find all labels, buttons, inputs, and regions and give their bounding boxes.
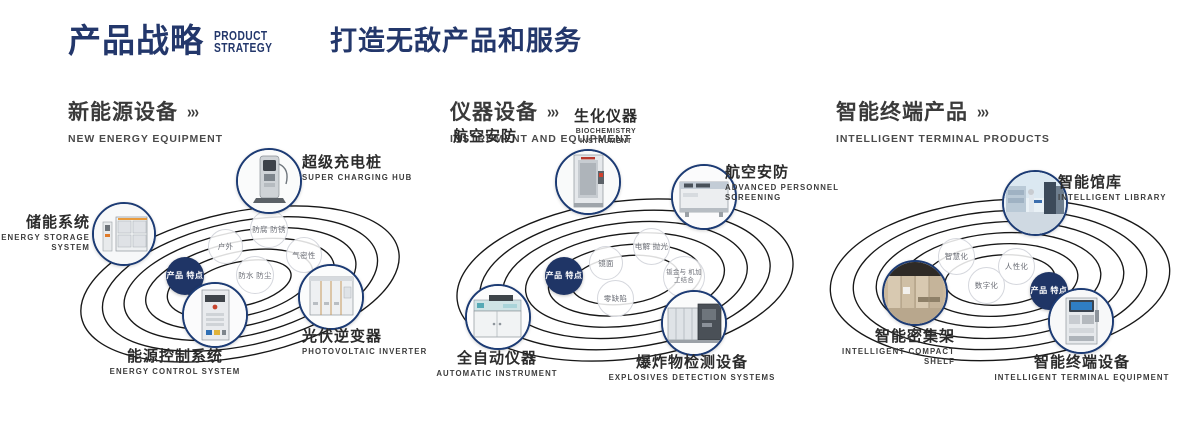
- cluster-instrument: 产品 特点 镜面 电解 抛光 零缺陷 钣金与 机加工结合 生化仪器 BIOCHE…: [425, 152, 825, 417]
- explosive-detector-icon: [663, 292, 725, 354]
- label-cn: 储能系统: [0, 214, 90, 231]
- node-compact-shelf[interactable]: [882, 260, 948, 326]
- feature-bubble-1: 户外: [208, 229, 243, 264]
- label-en: AUTOMATIC INSTRUMENT: [412, 369, 582, 379]
- page-header: 产品战略 PRODUCT STRATEGY: [68, 24, 285, 57]
- cluster-new-energy: 产品 特点 户外 防腐 防锈 防水 防尘 气密性 储能系统 ENERGY STO…: [40, 152, 440, 417]
- section-title-cn: 智能终端产品: [836, 96, 968, 126]
- label-cn: 航空安防: [407, 128, 517, 145]
- section-header-intelligent: 智能终端产品››› INTELLIGENT TERMINAL PRODUCTS: [836, 96, 1050, 145]
- label-cn: 能源控制系统: [85, 348, 265, 365]
- label-terminal-equipment: 智能终端设备 INTELLIGENT TERMINAL EQUIPMENT: [992, 354, 1172, 383]
- compact-shelf-icon: [884, 262, 946, 324]
- label-cn: 全自动仪器: [412, 350, 582, 367]
- terminal-kiosk-icon: [1050, 290, 1112, 352]
- node-charging-hub[interactable]: [236, 148, 302, 214]
- node-terminal-equipment[interactable]: [1048, 288, 1114, 354]
- product-strategy-infographic: 产品战略 PRODUCT STRATEGY 打造无敌产品和服务 新能源设备›››…: [0, 0, 1200, 422]
- label-cn: 智能馆库: [1058, 174, 1198, 191]
- label-en: INTELLIGENT TERMINAL EQUIPMENT: [992, 373, 1172, 383]
- label-en: EXPLOSIVES DETECTION SYSTEMS: [597, 373, 787, 383]
- section-title-cn: 仪器设备: [450, 96, 538, 126]
- feature-bubble-1: 镜面: [589, 246, 623, 280]
- charging-pile-icon: [238, 150, 300, 212]
- node-automatic-instrument[interactable]: [465, 284, 531, 350]
- label-charging-hub: 超级充电桩 SUPER CHARGING HUB: [302, 154, 442, 183]
- feature-bubble-2: 防腐 防锈: [250, 210, 288, 248]
- node-pv-inverter[interactable]: [298, 264, 364, 330]
- label-intelligent-library: 智能馆库 INTELLIGENT LIBRARY: [1058, 174, 1198, 203]
- node-energy-control[interactable]: [182, 282, 248, 348]
- label-cn: 超级充电桩: [302, 154, 442, 171]
- label-en: INTELLIGENT LIBRARY: [1058, 193, 1198, 203]
- section-title-en: INTELLIGENT TERMINAL PRODUCTS: [836, 133, 1050, 145]
- label-cn: 爆炸物检测设备: [597, 354, 787, 371]
- label-en: ENERGY STORAGE SYSTEM: [0, 233, 90, 253]
- label-biochemistry-instrument: 生化仪器 BIOCHEMISTRY INSTRUMENT: [551, 108, 661, 147]
- section-title-cn: 新能源设备: [68, 96, 178, 126]
- label-en: BIOCHEMISTRY INSTRUMENT: [551, 127, 661, 147]
- energy-storage-cabinet-icon: [94, 204, 154, 264]
- chevron-triple-icon: ›››: [187, 101, 198, 121]
- biochem-scanner-icon: [557, 151, 619, 213]
- label-automatic-instrument: 全自动仪器 AUTOMATIC INSTRUMENT: [412, 350, 582, 379]
- chevron-triple-icon: ›››: [977, 101, 988, 121]
- section-title-en: NEW ENERGY EQUIPMENT: [68, 133, 223, 145]
- node-explosives-detection[interactable]: [661, 290, 727, 356]
- label-compact-shelf: 智能密集架 INTELLIGENT COMPACT SHELF: [795, 328, 955, 367]
- core-bubble: 产品 特点: [545, 257, 583, 295]
- feature-bubble-3: 人性化: [998, 248, 1035, 285]
- label-cn: 智能终端设备: [992, 354, 1172, 371]
- section-header-new-energy: 新能源设备››› NEW ENERGY EQUIPMENT: [68, 96, 223, 145]
- node-biochemistry-instrument[interactable]: [555, 149, 621, 215]
- page-title: 产品战略: [68, 24, 204, 57]
- label-en: SUPER CHARGING HUB: [302, 173, 442, 183]
- feature-bubble-3: 零缺陷: [597, 280, 634, 317]
- label-explosives-detection: 爆炸物检测设备 EXPLOSIVES DETECTION SYSTEMS: [597, 354, 787, 383]
- page-subtitle: 打造无敌产品和服务: [330, 28, 582, 55]
- label-aviation-security-left: 航空安防: [407, 128, 517, 145]
- label-energy-storage: 储能系统 ENERGY STORAGE SYSTEM: [0, 214, 90, 253]
- label-en: ENERGY CONTROL SYSTEM: [85, 367, 265, 377]
- pv-inverter-icon: [300, 266, 362, 328]
- label-cn: 生化仪器: [551, 108, 661, 125]
- label-cn: 智能密集架: [795, 328, 955, 345]
- label-energy-control: 能源控制系统 ENERGY CONTROL SYSTEM: [85, 348, 265, 377]
- cluster-intelligent-terminal: 智慧化 数字化 人性化 产品 特点 智能馆库 INTELLIGENT LIBRA…: [810, 152, 1200, 417]
- control-cabinet-icon: [184, 284, 246, 346]
- node-energy-storage[interactable]: [92, 202, 156, 266]
- page-title-english: PRODUCT STRATEGY: [214, 30, 272, 57]
- automatic-analyzer-icon: [467, 286, 529, 348]
- label-en: INTELLIGENT COMPACT SHELF: [795, 347, 955, 367]
- feature-bubble-2: 电解 抛光: [633, 228, 670, 265]
- library-room-icon: [1004, 172, 1066, 234]
